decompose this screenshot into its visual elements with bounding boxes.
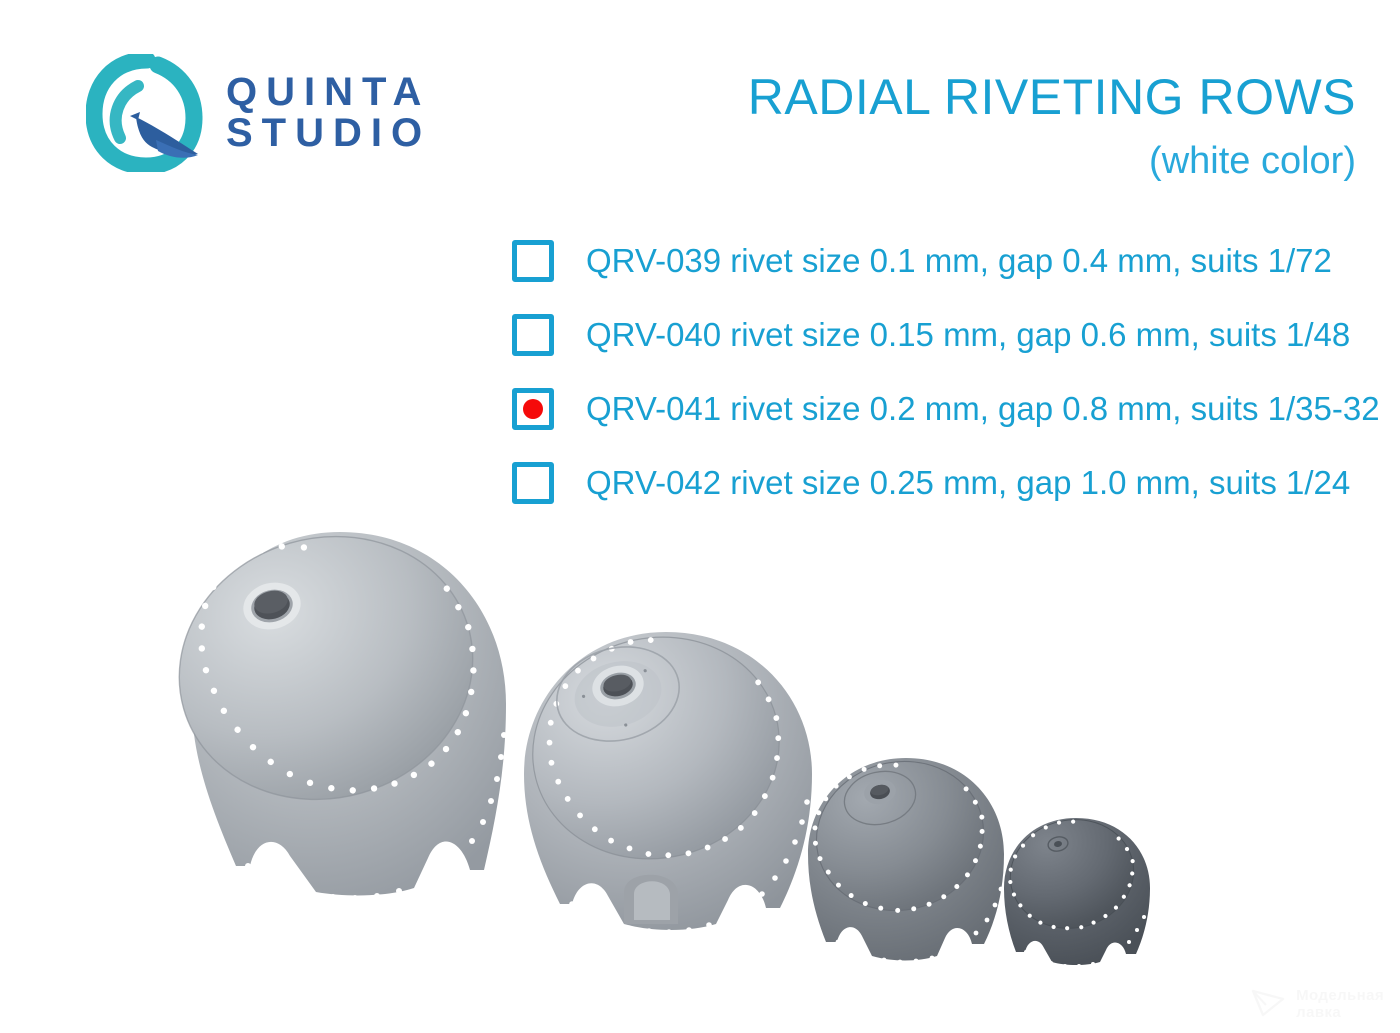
variant-row-qrv-041[interactable]: QRV-041 rivet size 0.2 mm, gap 0.8 mm, s…	[512, 386, 1380, 432]
spinner-medium	[498, 620, 838, 950]
page-title: RADIAL RIVETING ROWS	[748, 68, 1356, 126]
brand-name-line2: STUDIO	[226, 113, 431, 154]
variant-label-qrv-042: QRV-042 rivet size 0.25 mm, gap 1.0 mm, …	[586, 464, 1350, 502]
variant-row-qrv-039[interactable]: QRV-039 rivet size 0.1 mm, gap 0.4 mm, s…	[512, 238, 1380, 284]
variant-list: QRV-039 rivet size 0.1 mm, gap 0.4 mm, s…	[512, 238, 1380, 506]
spinner-large	[140, 518, 540, 938]
paper-plane-icon	[1250, 986, 1286, 1023]
page-subtitle: (white color)	[748, 140, 1356, 183]
variant-checkbox-qrv-041[interactable]	[512, 388, 554, 430]
blade-cutout	[624, 875, 678, 924]
variant-checkbox-qrv-042[interactable]	[512, 462, 554, 504]
watermark-line1: Модельная	[1296, 988, 1384, 1004]
watermark-line2: лавка	[1296, 1005, 1384, 1021]
variant-label-qrv-040: QRV-040 rivet size 0.15 mm, gap 0.6 mm, …	[586, 316, 1350, 354]
variant-label-qrv-039: QRV-039 rivet size 0.1 mm, gap 0.4 mm, s…	[586, 242, 1332, 280]
page-title-block: RADIAL RIVETING ROWS (white color)	[748, 68, 1356, 183]
variant-checkbox-qrv-039[interactable]	[512, 240, 554, 282]
selected-dot-icon	[523, 399, 543, 419]
product-render-area	[0, 500, 1400, 1033]
brand-name-line1: QUINTA	[226, 72, 431, 113]
brand-logo: QUINTA STUDIO	[86, 54, 431, 172]
product-info-sheet: QUINTA STUDIO RADIAL RIVETING ROWS (whit…	[0, 0, 1400, 1033]
brand-wordmark: QUINTA STUDIO	[226, 72, 431, 154]
quinta-swoosh-jet-logo	[86, 54, 208, 172]
watermark-text: Модельная лавка	[1296, 988, 1384, 1020]
spinner-small	[800, 750, 1020, 965]
spinner-tiny	[996, 812, 1161, 967]
variant-label-qrv-041: QRV-041 rivet size 0.2 mm, gap 0.8 mm, s…	[586, 390, 1380, 428]
variant-checkbox-qrv-040[interactable]	[512, 314, 554, 356]
watermark: Модельная лавка	[1250, 986, 1384, 1023]
variant-row-qrv-040[interactable]: QRV-040 rivet size 0.15 mm, gap 0.6 mm, …	[512, 312, 1380, 358]
